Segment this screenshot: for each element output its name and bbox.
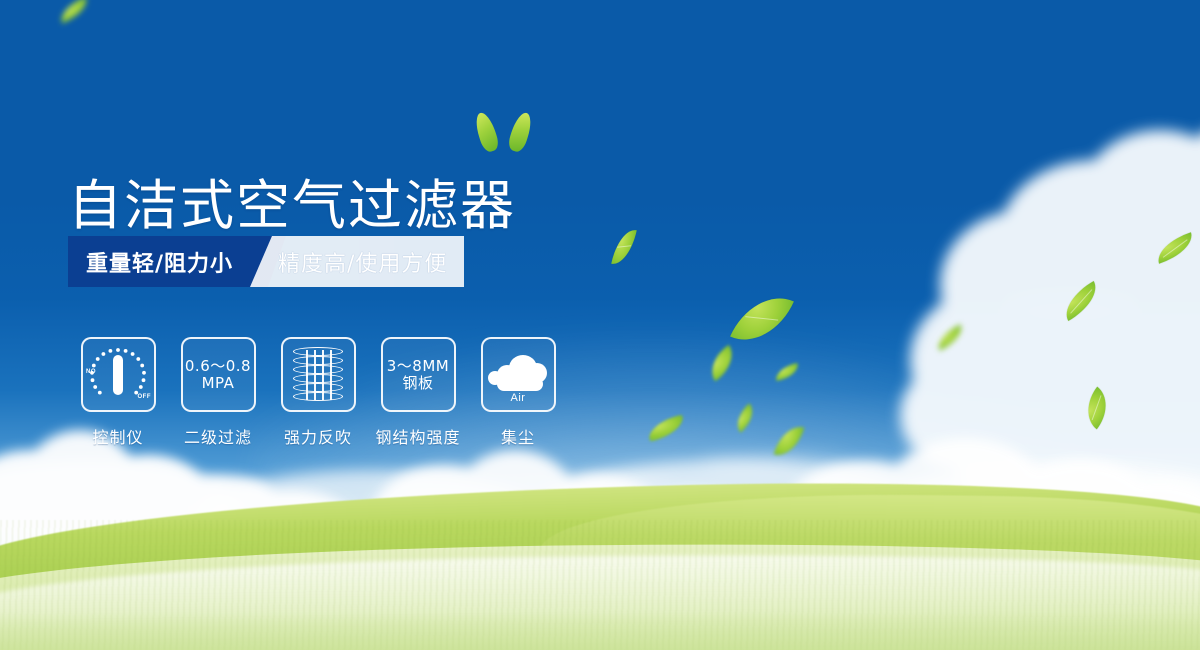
gauge-label-on: NO (86, 369, 96, 375)
filter-stack-disc (293, 392, 343, 401)
feature-label: 二级过滤 (184, 424, 252, 448)
feature-item-pressure[interactable]: 0.6～0.8 MPA 二级过滤 (168, 337, 268, 448)
feature-item-steel[interactable]: 3～8MM 钢板 钢结构强度 (368, 337, 468, 448)
feature-icon-box: 3～8MM 钢板 (381, 337, 456, 412)
feature-label: 集尘 (501, 424, 535, 448)
feature-list: NO OFF 控制仪 0.6～0.8 MPA 二级过滤 (68, 337, 568, 448)
feature-icon-box: NO OFF (81, 337, 156, 412)
filter-stack-disc (293, 383, 343, 392)
steel-material: 钢板 (387, 375, 449, 392)
filter-stack-disc (293, 365, 343, 374)
steel-plate-text-icon: 3～8MM 钢板 (387, 358, 449, 392)
feature-item-controller[interactable]: NO OFF 控制仪 (68, 337, 168, 448)
subtitle-bar: 重量轻/阻力小 精度高/使用方便 (68, 236, 464, 287)
feature-item-blowback[interactable]: 强力反吹 (268, 337, 368, 448)
filter-stack-disc (293, 374, 343, 383)
pressure-range: 0.6～0.8 (185, 358, 251, 375)
subtitle-right-text: 精度高/使用方便 (278, 236, 447, 287)
cloud-air-icon: Air (487, 347, 549, 403)
cloud-air-label: Air (487, 392, 549, 404)
feature-item-dust[interactable]: Air 集尘 (468, 337, 568, 448)
banner-stage: 自洁式空气过滤器 重量轻/阻力小 精度高/使用方便 (0, 0, 1200, 650)
pressure-text-icon: 0.6～0.8 MPA (185, 358, 251, 392)
subtitle-left-text: 重量轻/阻力小 (86, 236, 233, 287)
filter-stack-icon (293, 347, 343, 403)
page-title: 自洁式空气过滤器 (68, 179, 516, 233)
gauge-icon: NO OFF (87, 346, 149, 404)
feature-label: 钢结构强度 (375, 424, 460, 448)
filter-stack-disc (293, 347, 343, 356)
feature-icon-box (281, 337, 356, 412)
feature-label: 强力反吹 (284, 424, 352, 448)
gauge-needle-icon (113, 355, 123, 395)
steel-thickness: 3～8MM (387, 358, 449, 375)
feature-label: 控制仪 (92, 424, 143, 448)
gauge-label-off: OFF (138, 394, 152, 400)
grass-foreground-shadow (0, 612, 1200, 650)
feature-icon-box: Air (481, 337, 556, 412)
cloud-base (497, 377, 543, 391)
feature-icon-box: 0.6～0.8 MPA (181, 337, 256, 412)
pressure-unit: MPA (185, 375, 251, 392)
filter-stack-disc (293, 356, 343, 365)
